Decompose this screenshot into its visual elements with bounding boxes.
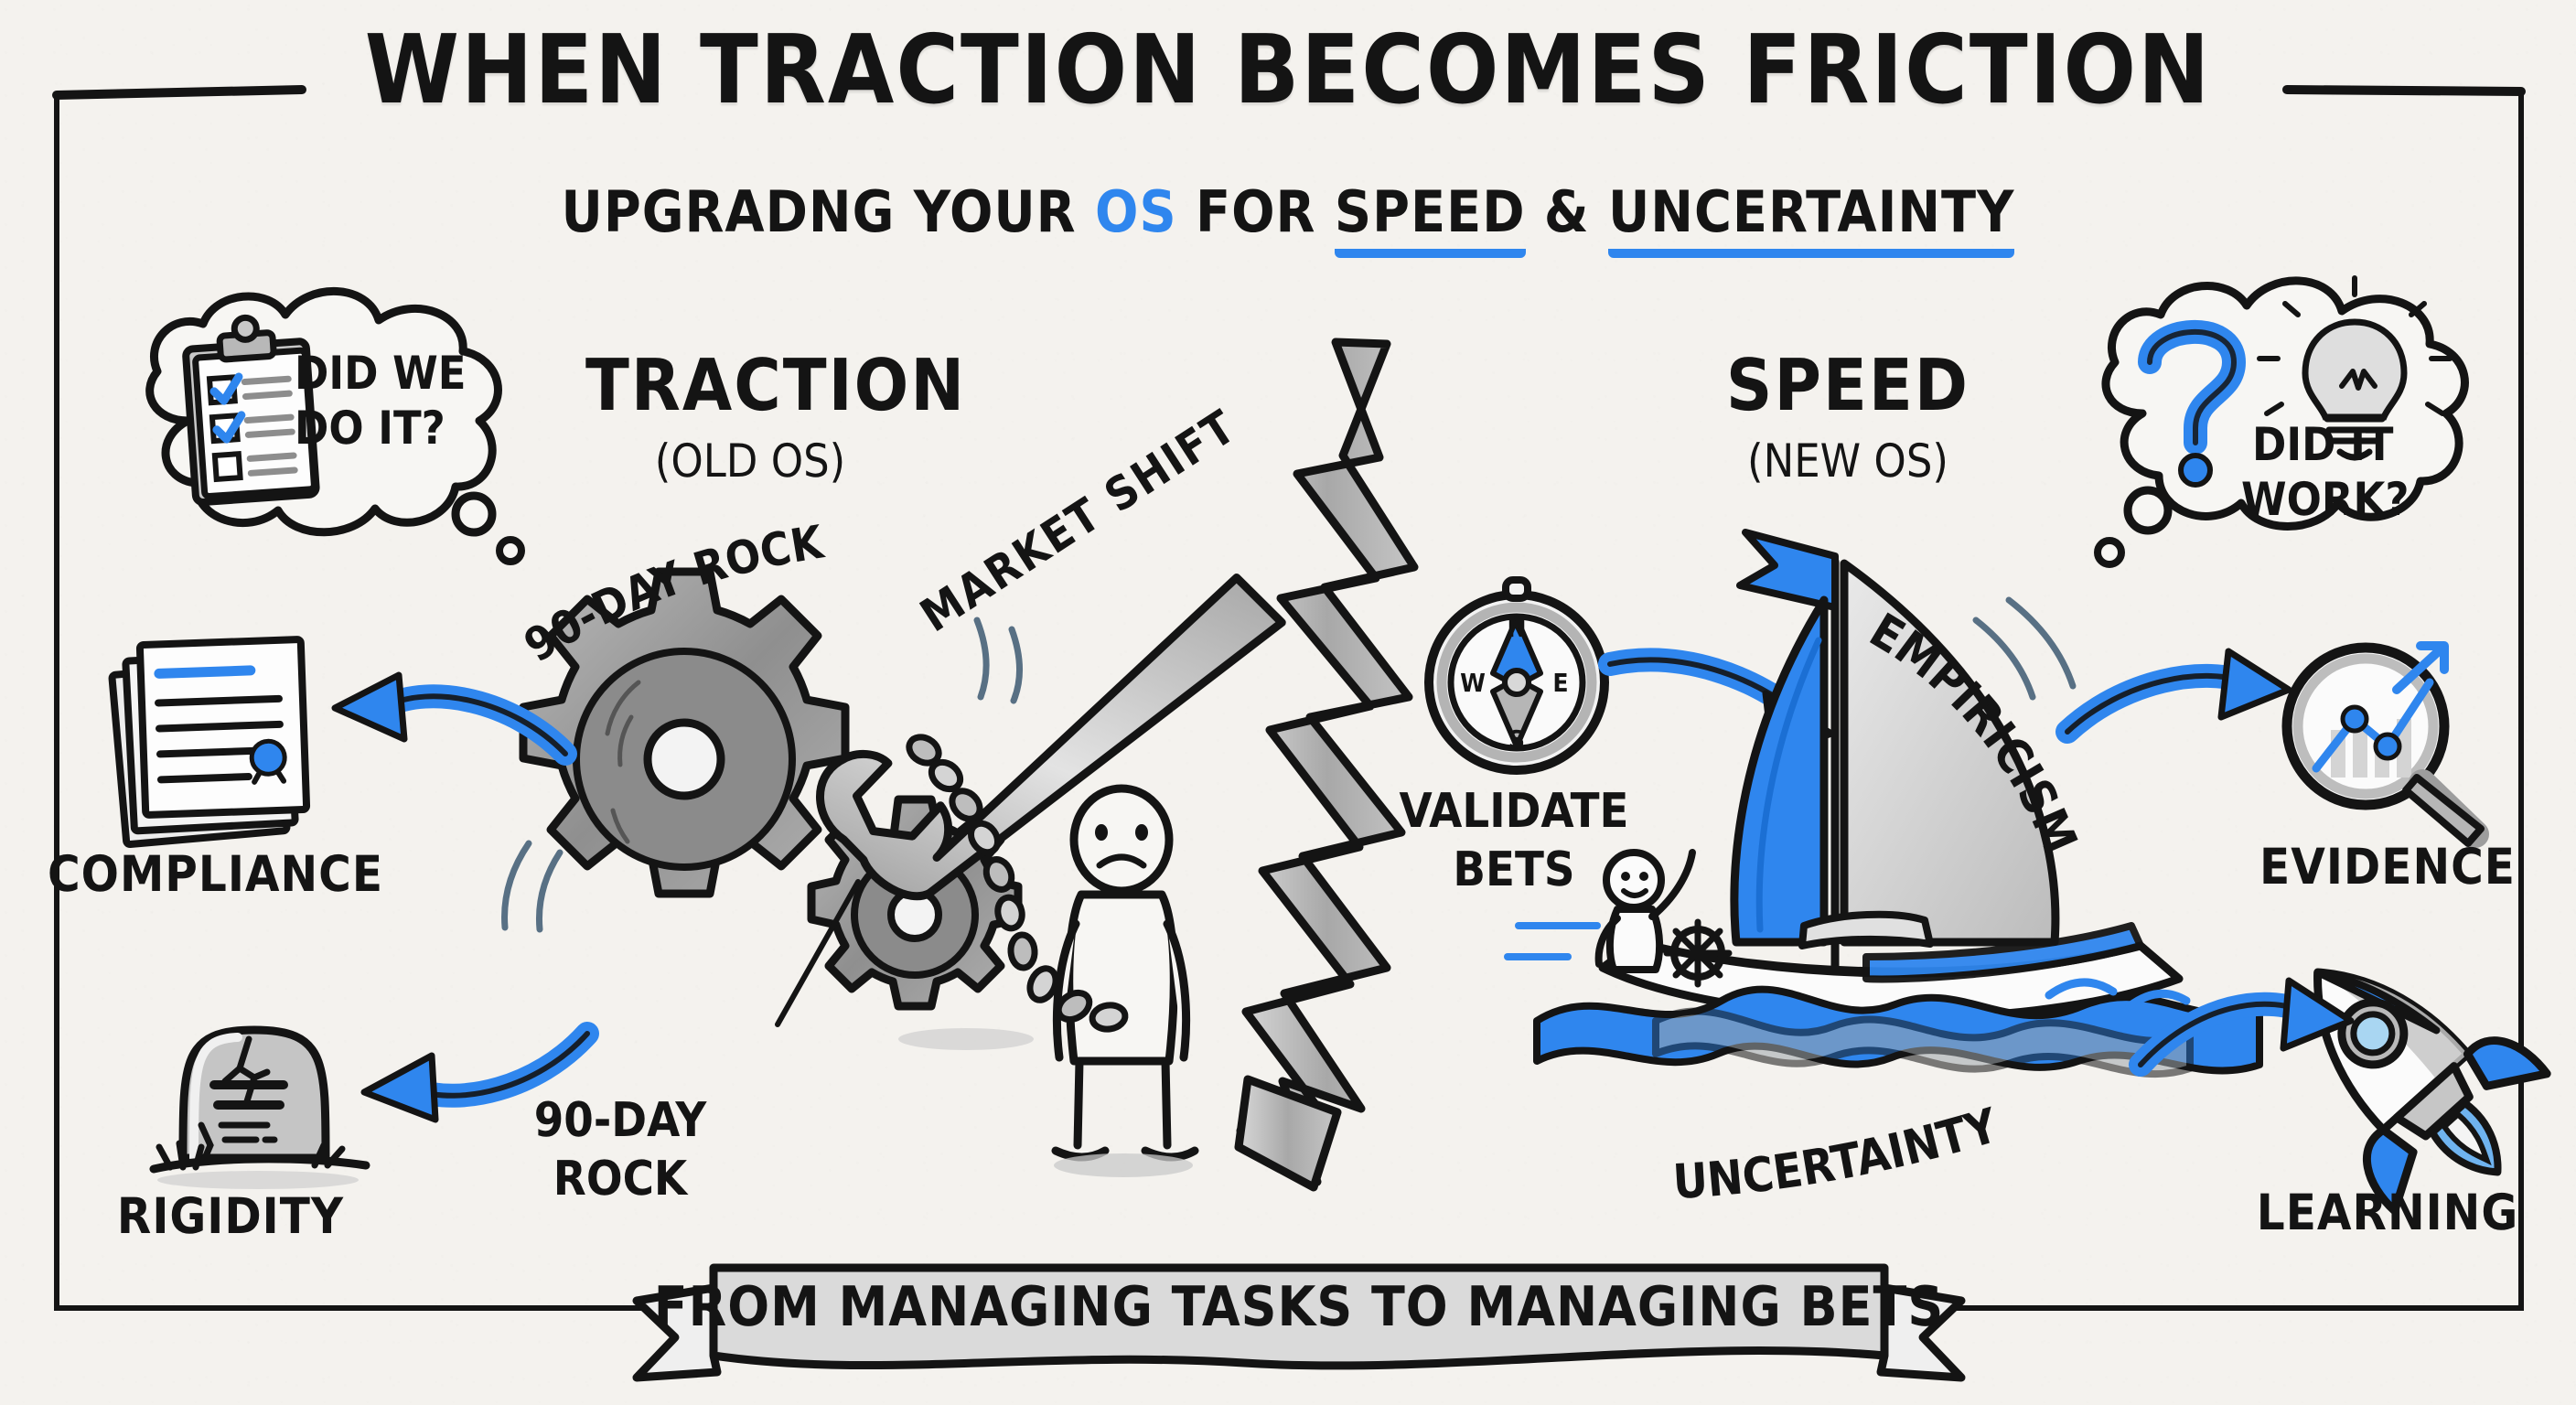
subtitle-part: UNCERTAINTY: [1608, 178, 2014, 258]
compass-point-w: W: [1460, 668, 1486, 698]
left-outcome-label-rigidity: RIGIDITY: [48, 1191, 413, 1243]
infographic-canvas: WHEN TRACTION BECOMES FRICTION UPGRADNG …: [0, 0, 2576, 1405]
subtitle-part: &: [1526, 178, 1608, 245]
subtitle-part: OS: [1095, 178, 1177, 245]
thought-bubble-left-line1: DID WE: [295, 349, 466, 398]
right-outcome-label-learning: LEARNING: [2214, 1187, 2561, 1239]
ships-wheel-icon: [1667, 922, 1729, 984]
right-panel-subheading: (NEW OS): [1683, 437, 2012, 486]
arrow-to-compliance-icon: [320, 666, 595, 812]
thought-bubble-left-line2: DO IT?: [295, 404, 445, 453]
svg-text:90-DAY ROCK: 90-DAY ROCK: [515, 515, 829, 672]
subtitle: UPGRADNG YOUR OS FOR SPEED & UNCERTAINTY: [0, 178, 2576, 245]
water-label: UNCERTAINTY: [1656, 1089, 2131, 1217]
right-outcome-label-evidence: EVIDENCE: [2214, 842, 2561, 894]
gear-label-bottom-line2: ROCK: [529, 1154, 712, 1205]
page-title: WHEN TRACTION BECOMES FRICTION: [0, 20, 2576, 120]
right-panel-heading: SPEED: [1683, 349, 2012, 424]
document-stack-icon: [106, 631, 353, 860]
arrow-to-rigidity-icon: [348, 990, 622, 1136]
thought-bubble-right-line1: DID IT: [2252, 421, 2394, 469]
subtitle-part: FOR: [1177, 178, 1335, 245]
subtitle-part: SPEED: [1335, 178, 1526, 258]
subtitle-part: UPGRADNG YOUR: [562, 178, 1095, 245]
left-panel-subheading: (OLD OS): [585, 437, 915, 486]
svg-text:UNCERTAINTY: UNCERTAINTY: [1671, 1099, 2005, 1211]
left-panel-heading: TRACTION: [585, 349, 915, 424]
left-outcome-label-compliance: COMPLIANCE: [48, 849, 377, 901]
arrow-to-evidence-icon: [2049, 640, 2324, 787]
banner-text: FROM MANAGING TASKS TO MANAGING BETS: [604, 1279, 1994, 1336]
arrow-to-learning-icon: [2131, 951, 2406, 1107]
